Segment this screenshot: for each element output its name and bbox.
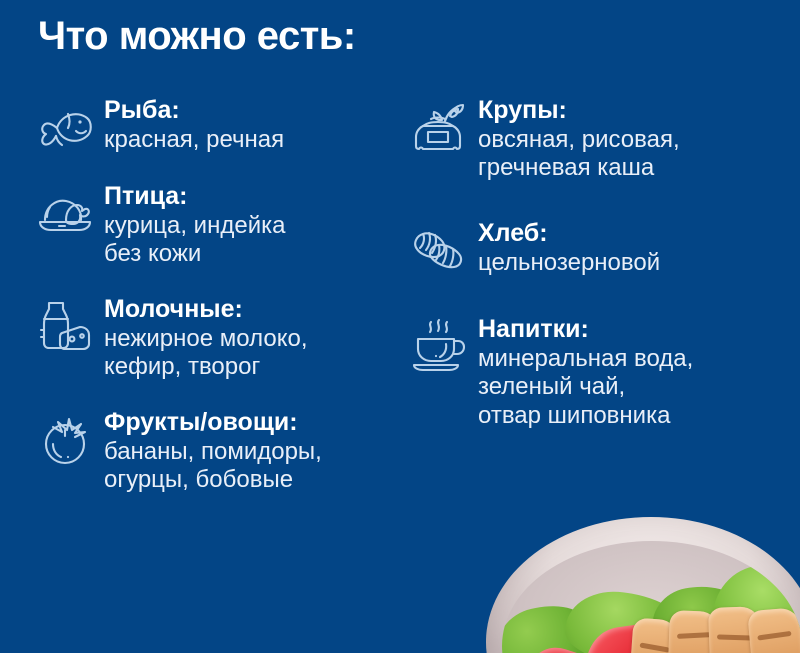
- item-description: нежирное молоко, кефир, творог: [104, 325, 396, 383]
- tea-cup-icon: [400, 315, 478, 375]
- item-description: курица, индейка без кожи: [104, 212, 396, 270]
- milk-bottle-cheese-icon: [26, 295, 104, 355]
- item-text: Напитки: минеральная вода, зеленый чай, …: [478, 315, 780, 431]
- item-description: минеральная вода, зеленый чай, отвар шип…: [478, 345, 780, 431]
- lettuce-leaf: [738, 614, 800, 653]
- lettuce-leaf: [502, 598, 598, 653]
- list-item-fish: Рыба: красная, речная: [26, 96, 396, 156]
- grain-sack-icon: [400, 96, 478, 156]
- salad-bowl-photo: [458, 483, 800, 653]
- item-text: Птица: курица, индейка без кожи: [104, 182, 396, 269]
- chicken-slice: [708, 606, 764, 653]
- list-item-grains: Крупы: овсяная, рисовая, гречневая каша: [400, 96, 780, 183]
- list-item-drinks: Напитки: минеральная вода, зеленый чай, …: [400, 315, 780, 431]
- item-heading: Хлеб:: [478, 219, 780, 249]
- list-item-fruits-vegetables: Фрукты/овощи: бананы, помидоры, огурцы, …: [26, 408, 396, 495]
- right-column: Крупы: овсяная, рисовая, гречневая каша: [400, 96, 780, 431]
- tomato-wedge: [521, 641, 600, 653]
- bowl-rim: [486, 517, 800, 653]
- lettuce-leaf: [704, 555, 800, 653]
- item-heading: Рыба:: [104, 96, 396, 126]
- list-item-bread: Хлеб: цельнозерновой: [400, 219, 780, 279]
- item-text: Фрукты/овощи: бананы, помидоры, огурцы, …: [104, 408, 396, 495]
- page-title: Что можно есть:: [38, 14, 356, 58]
- chicken-slice: [747, 607, 800, 653]
- chicken-slice: [626, 618, 679, 653]
- item-heading: Напитки:: [478, 315, 780, 345]
- item-description: красная, речная: [104, 126, 396, 155]
- left-column: Рыба: красная, речная Птица: кури: [26, 96, 396, 495]
- item-description: бананы, помидоры, огурцы, бобовые: [104, 438, 396, 496]
- tomato-icon: [26, 408, 104, 468]
- list-item-poultry: Птица: курица, индейка без кожи: [26, 182, 396, 269]
- item-heading: Фрукты/овощи:: [104, 408, 396, 438]
- item-text: Хлеб: цельнозерновой: [478, 219, 780, 277]
- item-description: цельнозерновой: [478, 249, 780, 278]
- item-text: Крупы: овсяная, рисовая, гречневая каша: [478, 96, 780, 183]
- roast-chicken-icon: [26, 182, 104, 242]
- infographic-poster: Что можно есть: Рыба: красная, речная: [0, 0, 800, 653]
- item-text: Молочные: нежирное молоко, кефир, творог: [104, 295, 396, 382]
- lettuce-leaf: [562, 585, 689, 653]
- item-text: Рыба: красная, речная: [104, 96, 396, 154]
- tomato-wedge: [581, 622, 666, 653]
- item-heading: Молочные:: [104, 295, 396, 325]
- bread-loaves-icon: [400, 219, 478, 279]
- lettuce-leaf: [649, 582, 747, 653]
- chicken-slice: [666, 610, 720, 653]
- fish-icon: [26, 96, 104, 156]
- list-item-dairy: Молочные: нежирное молоко, кефир, творог: [26, 295, 396, 382]
- bowl-interior: [502, 541, 800, 653]
- item-heading: Птица:: [104, 182, 396, 212]
- item-description: овсяная, рисовая, гречневая каша: [478, 126, 780, 184]
- item-heading: Крупы:: [478, 96, 780, 126]
